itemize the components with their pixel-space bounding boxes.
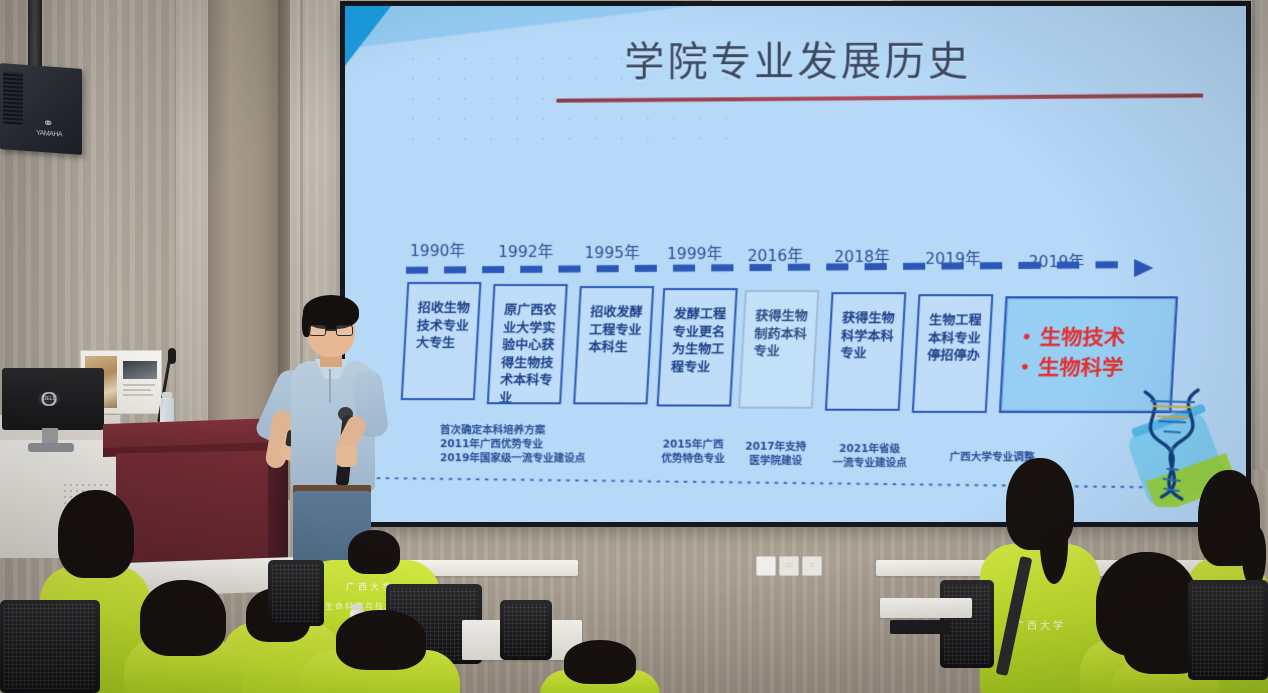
poster-image-right <box>123 361 157 379</box>
outlet-socket-icon: □□ <box>785 563 792 569</box>
lecture-hall-scene: ⚭ YAMAHA □□ □ 学院专业发展历史 1990年 1992年 1995年… <box>0 0 1268 693</box>
student-head <box>336 610 426 670</box>
speaker-brand-label: YAMAHA <box>36 129 60 140</box>
timeline-box-0[interactable]: 招收生物技术专业大专生 <box>401 282 482 400</box>
presenter-hair <box>303 295 359 329</box>
outlet-socket-icon: □ <box>810 563 814 569</box>
wall-switch-panel[interactable] <box>756 556 776 576</box>
timeline-arrow-head-icon <box>1134 259 1153 277</box>
timeline-box-6[interactable]: 生物工程本科专业停招停办 <box>912 294 994 413</box>
student <box>540 640 660 693</box>
monitor-base <box>28 443 74 452</box>
timeline-year-2: 1995年 <box>585 241 640 263</box>
highlight-line-1: 生物科学 <box>1019 353 1165 383</box>
glasses-bridge <box>326 329 336 331</box>
timeline-note-2: 2017年支持 医学院建设 <box>729 440 822 468</box>
presenter-left-forearm <box>264 409 294 470</box>
wall-outlet-1[interactable]: □□ <box>779 556 799 576</box>
student-ponytail <box>1040 506 1068 584</box>
timeline-year-0: 1990年 <box>410 239 465 261</box>
student-head <box>58 490 134 578</box>
dell-logo-icon: DELL <box>38 392 60 406</box>
student-head <box>140 580 226 656</box>
wall-outlet-2[interactable]: □ <box>802 556 822 576</box>
timeline-box-4[interactable]: 获得生物制药本科专业 <box>738 290 819 409</box>
student-ponytail <box>1242 526 1266 588</box>
timeline-box-row: 招收生物技术专业大专生 原广西农业大学实验中心获得生物技术本科专业 招收发酵工程… <box>344 280 1255 421</box>
timeline-year-3: 1999年 <box>667 242 722 264</box>
student-head <box>564 640 636 684</box>
student-head <box>348 530 400 574</box>
poster-text-line <box>123 389 151 391</box>
timeline-box-5[interactable]: 获得生物科学本科专业 <box>825 292 906 411</box>
seat-mesh <box>1192 584 1264 676</box>
timeline-note-1: 2015年广西 优势特色专业 <box>647 438 740 466</box>
seat-back <box>1188 580 1268 680</box>
yamaha-logo-icon: ⚭ YAMAHA <box>36 116 60 140</box>
highlight-line-0: 生物技术 <box>1021 322 1167 352</box>
timeline-dashed-line <box>406 261 1138 274</box>
seat-mesh <box>944 584 990 664</box>
timeline-year-row: 1990年 1992年 1995年 1999年 2016年 2018年 2019… <box>344 237 1255 261</box>
glasses-lens-right <box>336 325 353 336</box>
timeline-year-1: 1992年 <box>498 240 553 262</box>
student-desk <box>880 598 972 618</box>
desk-item <box>890 620 950 634</box>
timeline-box-2[interactable]: 招收发酵工程专业本科生 <box>573 286 654 404</box>
page-title: 学院专业发展历史 <box>344 28 1255 88</box>
speaker-grille <box>3 71 23 124</box>
wall-speaker: ⚭ YAMAHA <box>0 63 82 155</box>
timeline-note-3: 2021年省级 一流专业建设点 <box>814 442 925 470</box>
glasses-lens-left <box>309 325 326 336</box>
slide-content: 学院专业发展历史 1990年 1992年 1995年 1999年 2016年 2… <box>344 3 1255 526</box>
presenter-right-hand <box>336 445 357 467</box>
projection-screen: 学院专业发展历史 1990年 1992年 1995年 1999年 2016年 2… <box>344 5 1247 523</box>
presenter-glasses-icon <box>309 325 353 336</box>
timeline-box-1[interactable]: 原广西农业大学实验中心获得生物技术本科专业 <box>487 284 568 404</box>
seat-back <box>0 600 100 693</box>
microphone-head-icon <box>168 348 176 364</box>
timeline-box-3[interactable]: 发酵工程专业更名为生物工程专业 <box>657 288 738 406</box>
speaker-mount-pole <box>28 0 42 72</box>
poster-text-line <box>123 394 153 396</box>
student <box>124 580 242 693</box>
student <box>300 610 460 693</box>
timeline-note-0: 首次确定本科培养方案 2011年广西优势专业 2019年国家级一流专业建设点 <box>440 423 631 465</box>
presenter-shirt-placket <box>329 369 331 403</box>
timeline-arrow <box>406 263 1167 272</box>
seat-mesh <box>4 604 96 689</box>
poster-text-line <box>123 384 155 386</box>
